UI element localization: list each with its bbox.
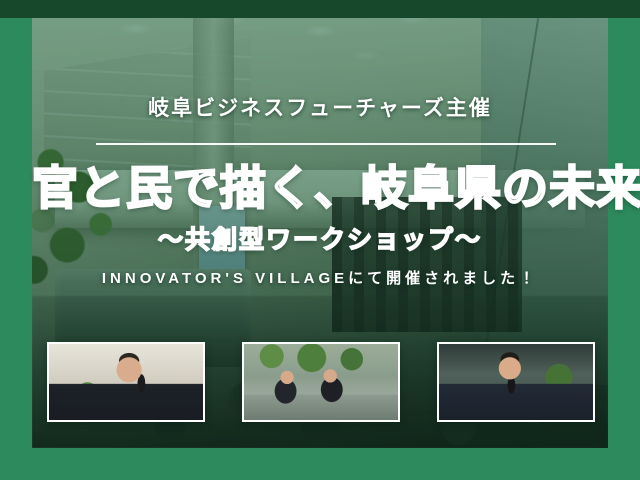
divider-rule [96, 143, 556, 145]
event-banner: 岐阜ビジネスフューチャーズ主催 官と民で描く、岐阜県の未来 〜共創型ワークショッ… [0, 0, 640, 480]
event-photo-2-image [244, 344, 398, 420]
event-photo-1 [47, 342, 205, 422]
event-photo-2 [242, 342, 400, 422]
top-accent-band [0, 0, 640, 18]
organizer-eyebrow: 岐阜ビジネスフューチャーズ主催 [32, 98, 608, 119]
venue-statement: INNOVATOR'S VILLAGEにて開催されました！ [32, 271, 608, 286]
photo-strip [47, 342, 595, 422]
event-photo-3 [437, 342, 595, 422]
page-title: 官と民で描く、岐阜県の未来 [32, 165, 608, 211]
subtitle: 〜共創型ワークショップ〜 [32, 228, 608, 253]
event-photo-3-image [439, 344, 593, 420]
event-photo-1-image [49, 344, 203, 420]
